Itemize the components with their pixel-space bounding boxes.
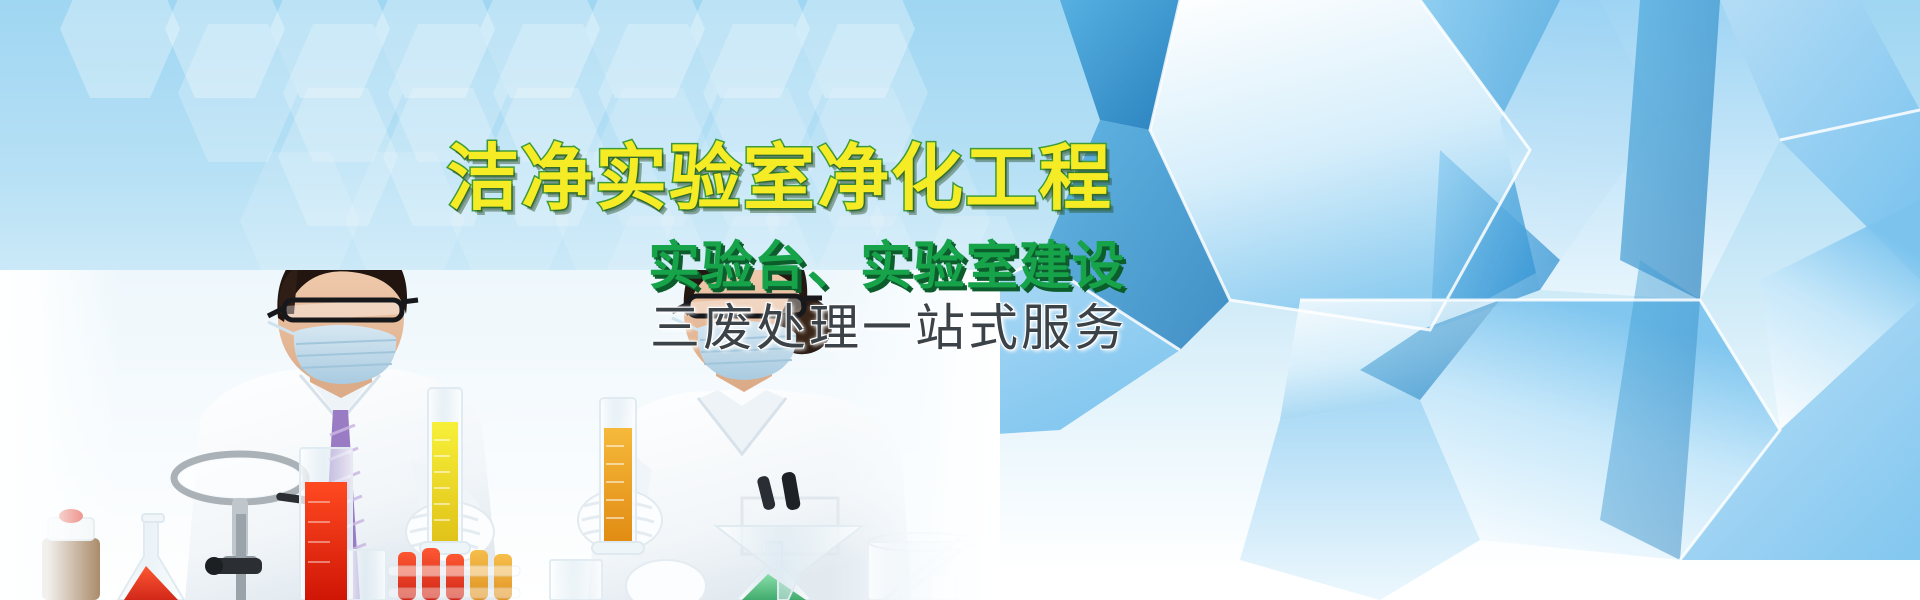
graduated-cylinder-orange bbox=[592, 398, 644, 554]
beaker-empty bbox=[348, 550, 386, 600]
safety-goggles bbox=[268, 298, 418, 322]
photo-right-fade bbox=[830, 270, 1000, 600]
graduated-cylinder-red bbox=[300, 448, 352, 600]
graduated-cylinder-yellow bbox=[420, 388, 470, 554]
laboratory-scientists-photo bbox=[0, 270, 1000, 600]
beaker-left-small bbox=[550, 560, 602, 600]
photo-left-fade bbox=[0, 270, 120, 600]
test-tube-rack bbox=[388, 548, 520, 600]
banner: 洁净实验室净化工程 实验台、实验室建设 三废处理一站式服务 bbox=[0, 0, 1920, 600]
